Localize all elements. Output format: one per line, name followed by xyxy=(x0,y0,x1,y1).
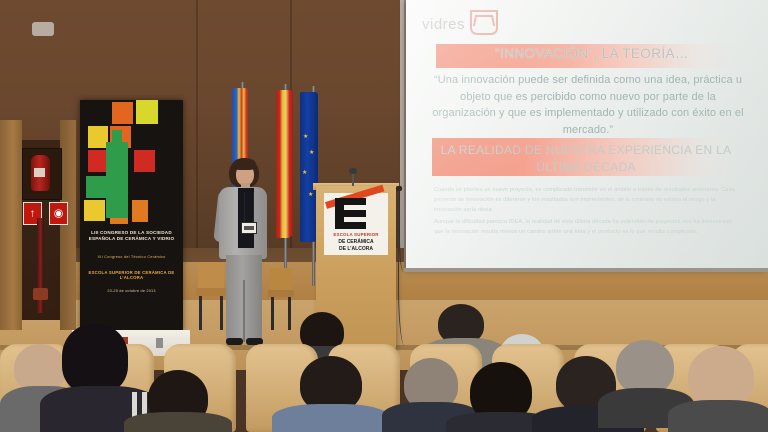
presenter-fringe xyxy=(233,158,256,170)
audience-head xyxy=(62,324,128,394)
banner-line-4: 23-25 de octubre de 2013 xyxy=(80,289,183,294)
lectern-org-small: ESCOLA SUPERIOR xyxy=(324,232,388,237)
lectern-org-line-1: DE CERÁMICA xyxy=(338,239,373,245)
banner-line-2: XII Congreso del Técnico Cerámico xyxy=(80,255,183,260)
audience-shoulders xyxy=(668,400,768,432)
fire-extinguisher-label xyxy=(34,168,45,177)
standpipe-valve xyxy=(33,288,48,300)
roll-up-banner: LIII CONGRESO DE LA SOCIEDAD ESPAÑOLA DE… xyxy=(80,100,183,332)
banner-mosaic-graphic xyxy=(80,100,183,226)
slide-title: “INNOVACIÓN”, LA TEORÍA… xyxy=(442,46,742,61)
gooseneck-microphone-icon xyxy=(349,168,357,174)
banner-line-1: LIII CONGRESO DE LA SOCIEDAD ESPAÑOLA DE… xyxy=(80,230,183,241)
fire-equipment-sign: ◉ xyxy=(49,202,68,225)
screenshot-root: ↑ ◉ LIII CONGRESO DE LA SOCIEDAD ESPAÑOL… xyxy=(0,0,768,432)
slide-heading-2: LA REALIDAD DE NUESTRA EXPERIENCIA EN LA… xyxy=(436,142,736,177)
audience-head xyxy=(14,344,66,392)
extinguisher-glyph-icon: ◉ xyxy=(54,208,64,219)
banner-bottle-graphic xyxy=(106,142,128,218)
vidres-bracket-mark-icon xyxy=(470,10,498,35)
wall-pillar-left xyxy=(0,120,22,330)
lectern-org-name: DE CERÁMICA DE L’ALCORA xyxy=(324,239,388,252)
exit-arrow-icon: ↑ xyxy=(30,208,36,219)
slide-quote: “Una innovación puede ser definida como … xyxy=(432,72,744,138)
screen-frame-bottom xyxy=(404,268,768,272)
microphone-stem xyxy=(352,172,354,186)
lectern-org-line-2: DE L’ALCORA xyxy=(339,246,373,252)
slide-body-paragraph-1: Cuando se plantea un nuevo proyecto, es … xyxy=(434,186,742,215)
slide-body-paragraph-2: Aunque la dificultad parezca IDEA, la re… xyxy=(434,218,742,238)
projection-screen: vidres “INNOVACIÓN”, LA TEORÍA… “Una inn… xyxy=(406,0,768,270)
conference-badge xyxy=(241,222,257,234)
audience-shoulders xyxy=(272,404,390,432)
audience-head xyxy=(688,346,754,408)
audience-shoulders xyxy=(124,412,232,432)
projector-cable xyxy=(399,188,410,272)
spain-flag xyxy=(276,90,293,238)
lanyard xyxy=(244,192,254,223)
vidres-wordmark: vidres xyxy=(422,16,465,33)
wall-pillar-right xyxy=(60,120,76,330)
ceiling-speaker xyxy=(32,22,54,36)
slide: vidres “INNOVACIÓN”, LA TEORÍA… “Una inn… xyxy=(406,0,768,270)
audience-head xyxy=(616,340,674,394)
audience xyxy=(0,300,768,432)
banner-line-3: ESCOLA SUPERIOR DE CERÁMICA DE L’ALCORA xyxy=(80,270,183,280)
alcora-e-mark-icon xyxy=(335,198,366,229)
